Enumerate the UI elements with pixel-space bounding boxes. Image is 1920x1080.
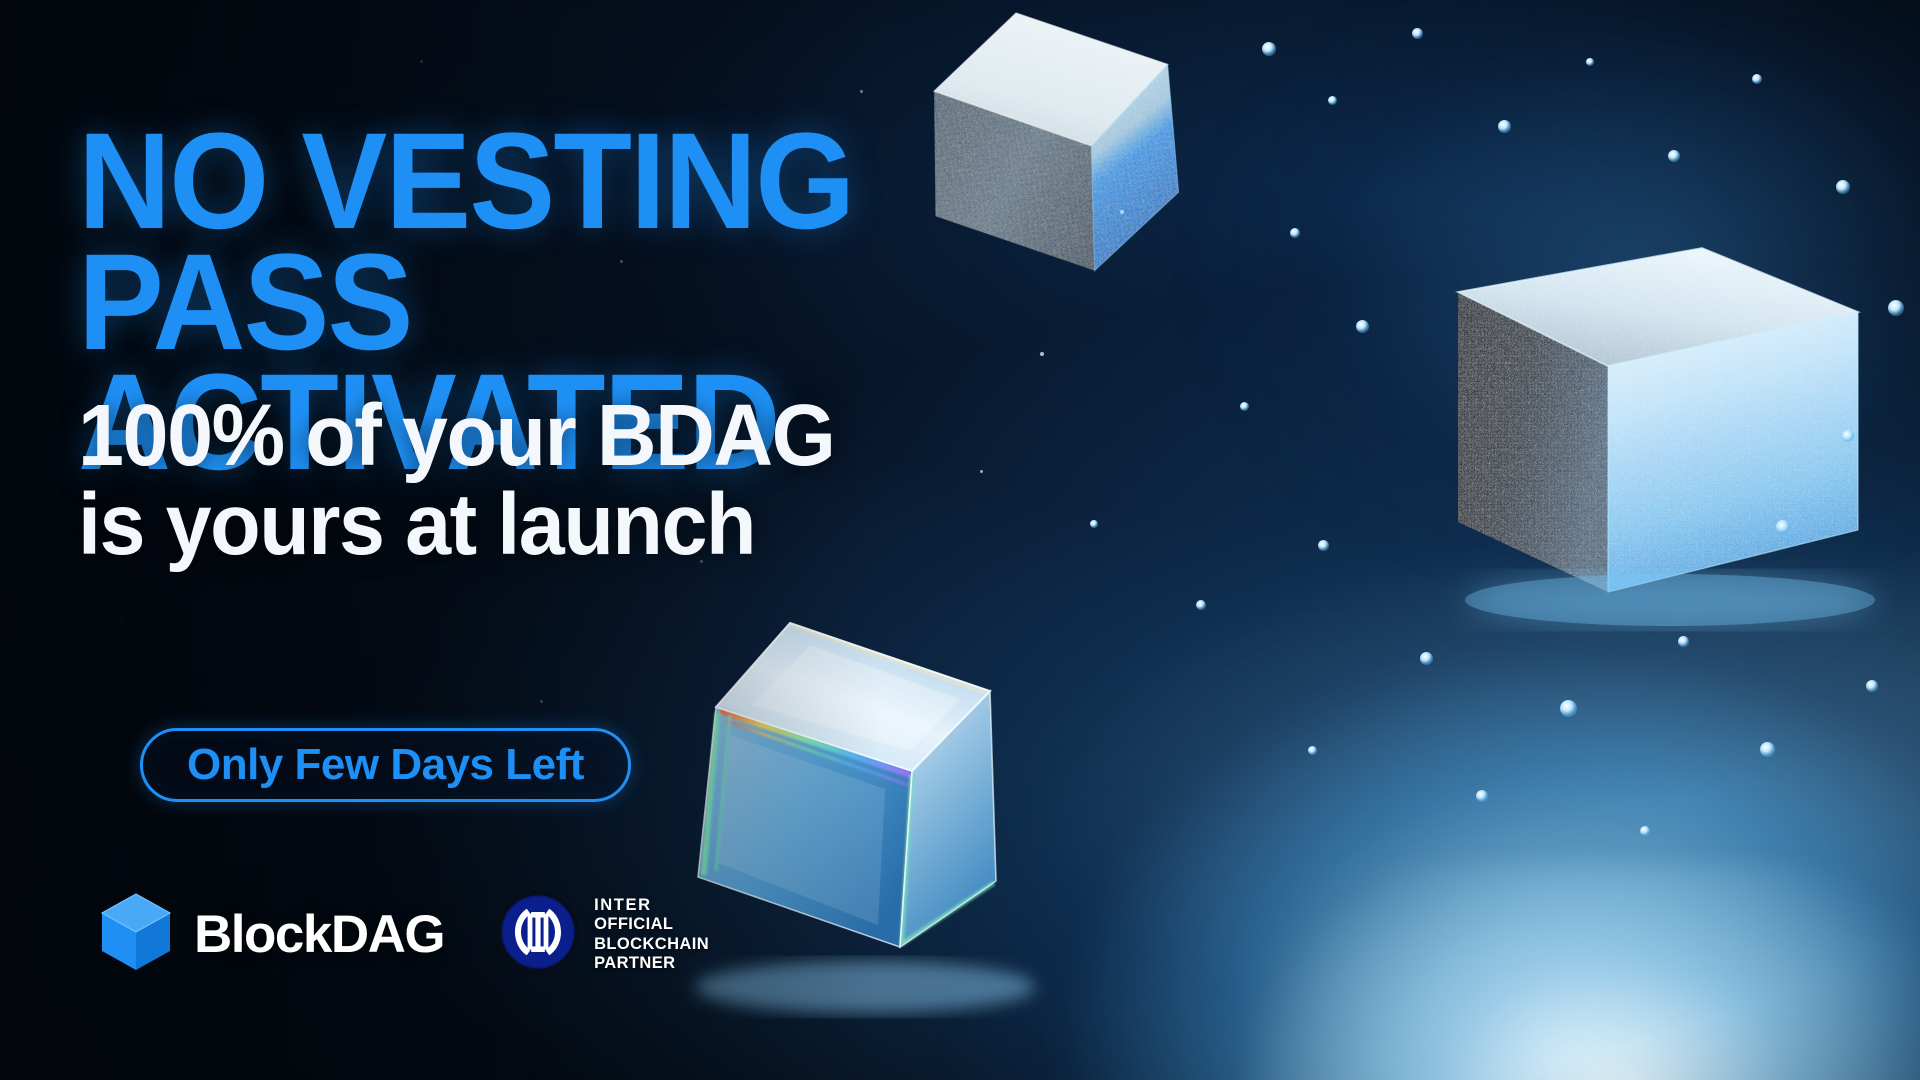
inter-line-3: BLOCKCHAIN	[594, 935, 709, 954]
frozen-cube-large-icon	[1440, 200, 1880, 630]
inter-partner-text: INTER OFFICIAL BLOCKCHAIN PARTNER	[594, 896, 709, 973]
inter-line-4: PARTNER	[594, 954, 709, 973]
inter-line-1: INTER	[594, 896, 709, 915]
urgency-badge[interactable]: Only Few Days Left	[140, 728, 631, 802]
subheadline-line-1: 100% of your BDAG	[78, 387, 835, 484]
ice-floor-highlight	[1152, 864, 1920, 1080]
blockdag-wordmark: BlockDAG	[194, 904, 444, 965]
inter-partner-logo[interactable]: INTER OFFICIAL BLOCKCHAIN PARTNER	[496, 890, 709, 979]
subheadline-line-2: is yours at launch	[78, 481, 933, 570]
promo-banner: NO VESTING PASS ACTIVATED 100% of your B…	[0, 0, 1920, 1080]
inter-line-2: OFFICIAL	[594, 915, 709, 934]
cube-logo-icon	[100, 892, 172, 977]
logo-row: BlockDAG	[100, 890, 709, 979]
blockdag-logo[interactable]: BlockDAG	[100, 892, 444, 977]
inter-milan-crest-icon	[496, 890, 580, 979]
subheadline: 100% of your BDAG is yours at launch	[78, 392, 933, 569]
